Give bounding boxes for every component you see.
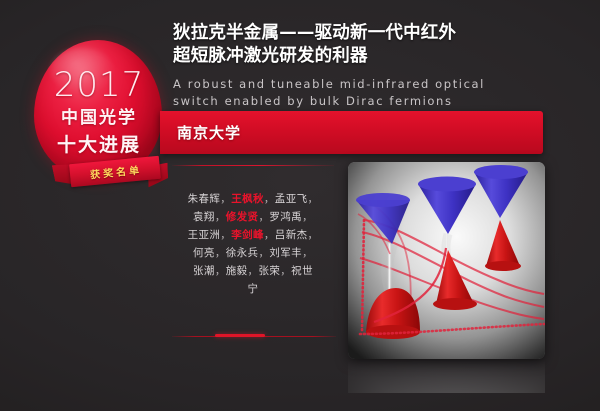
author-line: 朱春辉，王枫秋，孟亚飞，	[168, 190, 338, 208]
author-separator: ，	[264, 229, 275, 241]
author-line: 张潮，施毅，张荣，祝世	[168, 262, 338, 280]
author-name: 孟亚飞	[275, 193, 308, 205]
author-separator: ，	[258, 211, 269, 223]
badge-org-line: 中国光学	[28, 110, 170, 127]
author-separator: ，	[215, 211, 226, 223]
dirac-cone-svg	[348, 162, 545, 359]
author-name: 王亚洲	[188, 229, 221, 241]
author-name: 施毅	[226, 265, 248, 277]
author-separator: ，	[215, 265, 226, 277]
author-separator: ，	[302, 211, 313, 223]
author-separator: ，	[258, 247, 269, 259]
author-name: 袁翔	[193, 211, 215, 223]
author-name: 祝世	[291, 265, 313, 277]
title-english-line-1: A robust and tuneable mid-infrared optic…	[173, 76, 545, 93]
author-separator: ，	[308, 193, 319, 205]
title-english: A robust and tuneable mid-infrared optic…	[173, 76, 545, 111]
author-name: 朱春辉	[188, 193, 221, 205]
author-separator: ，	[215, 247, 226, 259]
author-separator: ，	[302, 247, 313, 259]
author-line: 袁翔，修发贤，罗鸿禹，	[168, 208, 338, 226]
institution-bar: 南京大学	[160, 111, 543, 154]
author-separator: ，	[308, 229, 319, 241]
title-chinese-line-1: 狄拉克半金属——驱动新一代中红外	[173, 22, 545, 45]
author-line: 宁	[168, 280, 338, 298]
ribbon-label: 获奖名单	[89, 161, 142, 181]
author-separator: ，	[280, 265, 291, 277]
author-name: 吕新杰	[275, 229, 308, 241]
author-name: 张荣	[258, 265, 280, 277]
figure-reflection	[348, 359, 545, 393]
badge-year: 2017	[28, 68, 170, 102]
author-separator: ，	[264, 193, 275, 205]
author-name: 罗鸿禹	[269, 211, 302, 223]
divider-rule-top	[172, 165, 334, 166]
author-separator: ，	[220, 193, 231, 205]
title-block: 狄拉克半金属——驱动新一代中红外 超短脉冲激光研发的利器 A robust an…	[173, 22, 545, 110]
author-name-highlighted: 王枫秋	[231, 193, 264, 205]
dirac-cone-illustration	[348, 162, 545, 359]
badge-award-line: 十大进展	[28, 136, 170, 155]
institution-name: 南京大学	[177, 122, 241, 143]
figure-reflection-svg	[348, 359, 545, 393]
title-english-line-2: switch enabled by bulk Dirac fermions	[173, 93, 545, 110]
author-name-highlighted: 李剑峰	[231, 229, 264, 241]
author-separator: ，	[248, 265, 259, 277]
author-name-highlighted: 修发贤	[226, 211, 259, 223]
author-list: 朱春辉，王枫秋，孟亚飞，袁翔，修发贤，罗鸿禹，王亚洲，李剑峰，吕新杰，何亮，徐永…	[168, 190, 338, 298]
award-badge: 2017 中国光学 十大进展 获奖名单	[28, 40, 170, 188]
title-chinese: 狄拉克半金属——驱动新一代中红外 超短脉冲激光研发的利器	[173, 22, 545, 69]
title-chinese-line-2: 超短脉冲激光研发的利器	[173, 45, 545, 68]
author-name: 宁	[248, 283, 259, 295]
author-name: 刘军丰	[269, 247, 302, 259]
divider-rule-bottom-accent	[215, 334, 265, 337]
author-name: 徐永兵	[226, 247, 259, 259]
author-line: 何亮，徐永兵，刘军丰，	[168, 244, 338, 262]
author-separator: ，	[220, 229, 231, 241]
author-name: 何亮	[193, 247, 215, 259]
author-line: 王亚洲，李剑峰，吕新杰，	[168, 226, 338, 244]
author-name: 张潮	[193, 265, 215, 277]
award-slide: 2017 中国光学 十大进展 获奖名单 狄拉克半金属——驱动新一代中红外 超短脉…	[0, 0, 600, 411]
